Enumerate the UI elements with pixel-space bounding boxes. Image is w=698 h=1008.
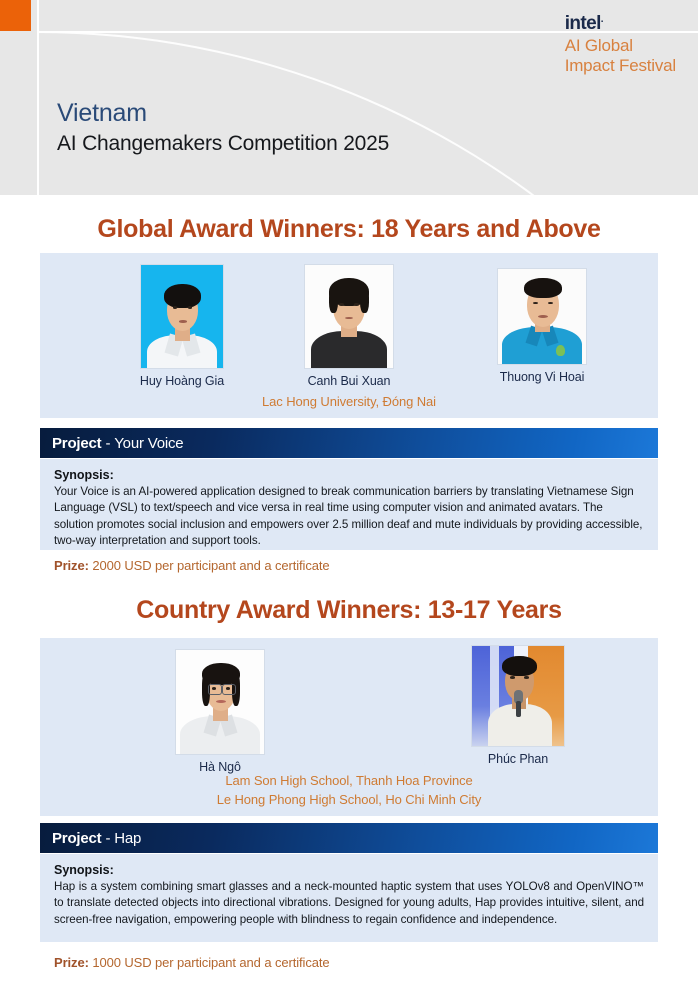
synopsis-label: Synopsis: — [54, 863, 644, 877]
project-label: Project — [52, 435, 101, 452]
winner-name: Canh Bui Xuan — [295, 374, 403, 388]
section-heading-country: Country Award Winners: 13-17 Years — [0, 596, 698, 625]
intel-brand-text: intel — [565, 13, 601, 34]
winner-name: Phúc Phan — [448, 752, 588, 766]
winners-panel-global: Huy Hoàng Gia Canh Bui Xuan — [40, 253, 658, 418]
winner-name: Huy Hoàng Gia — [128, 374, 236, 388]
header-title-group: Vietnam AI Changemakers Competition 2025 — [57, 98, 389, 158]
winner-photo — [141, 265, 223, 368]
synopsis-panel-country: Synopsis: Hap is a system combining smar… — [40, 854, 658, 942]
project-bar-country: Project - Hap — [40, 823, 658, 853]
organization-line: Le Hong Phong High School, Ho Chi Minh C… — [40, 791, 658, 810]
organization-line: Lac Hong University, Đóng Nai — [40, 393, 658, 412]
winner-card: Canh Bui Xuan — [295, 265, 403, 388]
project-label: Project — [52, 830, 101, 847]
country-title: Vietnam — [57, 98, 389, 128]
project-name: Hap — [114, 830, 141, 847]
prize-label: Prize: — [54, 955, 89, 970]
winner-photo — [498, 269, 586, 364]
winner-card: Thuong Vi Hoai — [472, 269, 612, 384]
festival-line-1: AI Global — [565, 36, 676, 56]
prize-label: Prize: — [54, 558, 89, 573]
organization-line: Lam Son High School, Thanh Hoa Province — [40, 772, 658, 791]
prize-line-global: Prize: 2000 USD per participant and a ce… — [54, 558, 330, 573]
winner-name: Thuong Vi Hoai — [472, 370, 612, 384]
festival-name: AI Global Impact Festival — [565, 36, 676, 76]
project-bar-global: Project - Your Voice — [40, 428, 658, 458]
synopsis-text: Hap is a system combining smart glasses … — [54, 879, 644, 928]
prize-value: 2000 USD per participant and a certifica… — [92, 558, 329, 573]
winner-card: Phúc Phan — [448, 646, 588, 766]
festival-line-2: Impact Festival — [565, 56, 676, 76]
project-name: Your Voice — [114, 435, 183, 452]
orange-corner-block — [0, 0, 31, 31]
winner-photo — [472, 646, 564, 746]
winner-photo — [176, 650, 264, 754]
section-heading-global: Global Award Winners: 18 Years and Above — [0, 215, 698, 244]
synopsis-label: Synopsis: — [54, 468, 644, 482]
intel-wordmark: intel. — [565, 14, 676, 33]
intel-trademark-dot: . — [601, 14, 603, 25]
winner-card: Hà Ngô — [150, 650, 290, 774]
page-header: intel. AI Global Impact Festival Vietnam… — [0, 0, 698, 195]
prize-value: 1000 USD per participant and a certifica… — [92, 955, 329, 970]
prize-line-country: Prize: 1000 USD per participant and a ce… — [54, 955, 330, 970]
winner-photo — [305, 265, 393, 368]
winner-card: Huy Hoàng Gia — [128, 265, 236, 388]
synopsis-panel-global: Synopsis: Your Voice is an AI-powered ap… — [40, 459, 658, 550]
intel-logo-block: intel. AI Global Impact Festival — [565, 14, 676, 76]
synopsis-text: Your Voice is an AI-powered application … — [54, 484, 644, 550]
competition-title: AI Changemakers Competition 2025 — [57, 130, 389, 158]
winners-panel-country: Hà Ngô Phúc Phan Lam Son High School, Th… — [40, 638, 658, 816]
project-separator: - — [105, 435, 110, 452]
project-separator: - — [105, 830, 110, 847]
